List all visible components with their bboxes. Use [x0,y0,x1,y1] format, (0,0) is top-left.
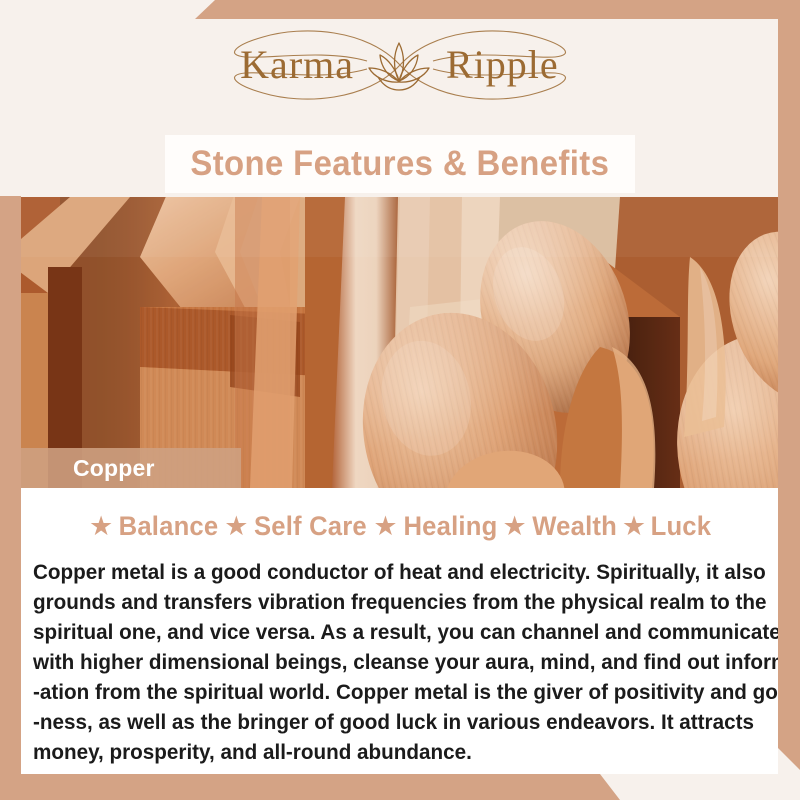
frame-right-band [778,0,800,800]
description-text: Copper metal is a good conductor of heat… [33,557,742,767]
benefit-self-care: Self Care [254,511,367,542]
benefit-luck: Luck [651,511,712,542]
benefit-balance: Balance [119,511,219,542]
star-icon: ★ [502,513,526,540]
benefit-wealth: Wealth [532,511,617,542]
photo-caption-band: Copper [21,448,241,488]
description-line: grounds and transfers vibration frequenc… [33,587,742,617]
infographic-page: Karma Ripple Stone Features & Benefits [0,0,800,800]
description-line: Copper metal is a good conductor of heat… [33,557,742,587]
description-line: -ation from the spiritual world. Copper … [33,677,742,707]
description-line: money, prosperity, and all-round abundan… [33,737,742,767]
lotus-icon [366,37,432,93]
description-line: spiritual one, and vice versa. As a resu… [33,617,742,647]
star-icon: ★ [224,513,248,540]
product-photo: Copper [0,197,800,488]
brand-logo-text: Karma Ripple [185,37,615,93]
description-line: with higher dimensional beings, cleanse … [33,647,742,677]
frame-left-band [0,196,21,800]
brand-logo: Karma Ripple [185,21,615,109]
star-icon: ★ [89,513,113,540]
brand-name-left: Karma [186,45,362,85]
content-panel: ★ Balance ★ Self Care ★ Healing ★ Wealth… [21,488,778,774]
benefits-row: ★ Balance ★ Self Care ★ Healing ★ Wealth… [21,501,778,551]
copper-bars-image [0,197,800,488]
star-icon: ★ [622,513,646,540]
brand-name-right: Ripple [436,45,614,85]
benefit-healing: Healing [403,511,497,542]
star-icon: ★ [373,513,397,540]
description-line: -ness, as well as the bringer of good lu… [33,707,742,737]
frame-bottom-band [0,774,800,800]
photo-caption-label: Copper [73,455,155,482]
brand-header: Karma Ripple [0,0,800,130]
page-title: Stone Features & Benefits [191,144,610,184]
title-band: Stone Features & Benefits [0,130,800,197]
title-panel: Stone Features & Benefits [165,135,635,193]
